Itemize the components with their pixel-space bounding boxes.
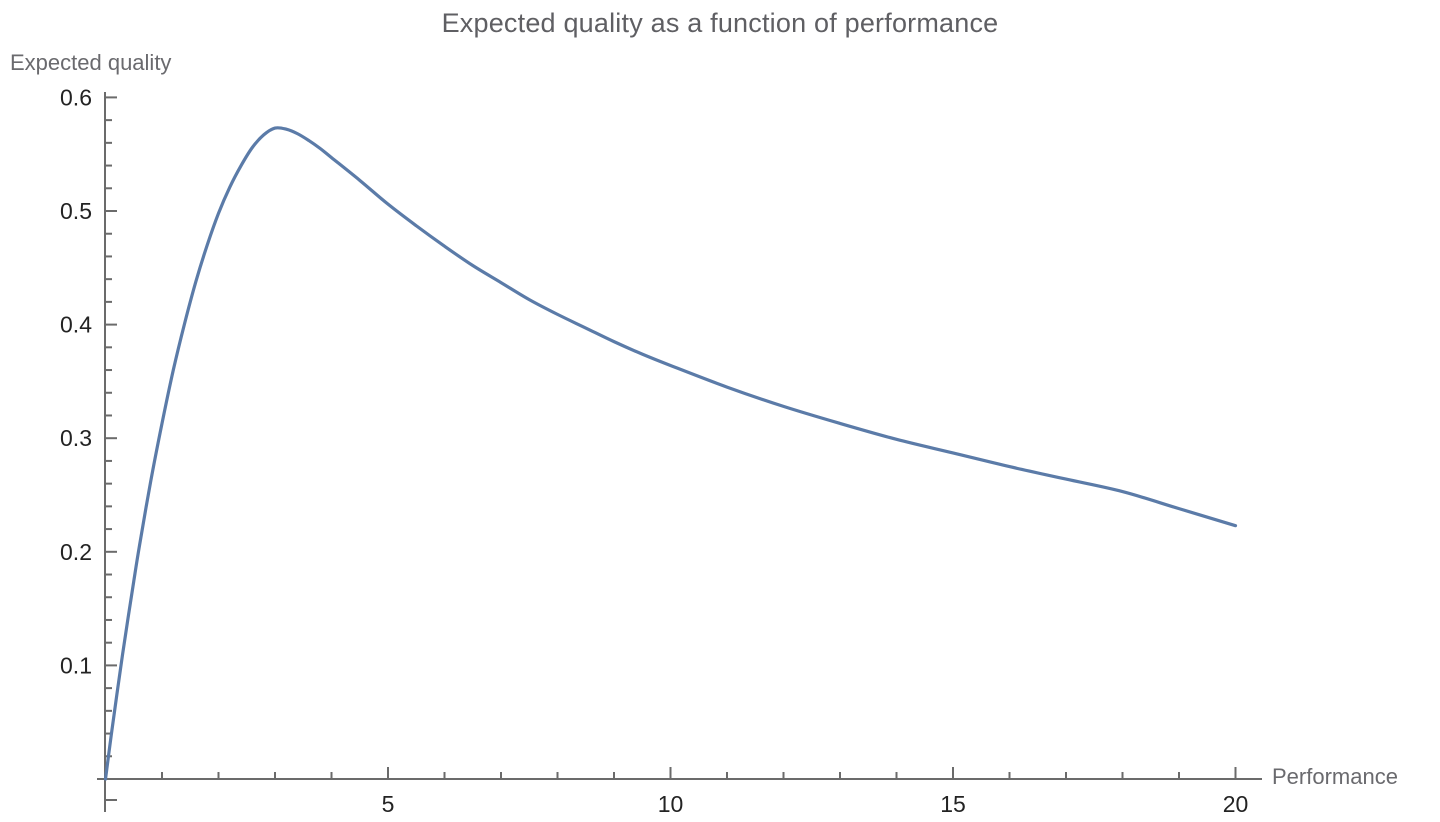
y-axis-tick-label: 0.5 — [60, 198, 92, 224]
x-axis-tick-label: 5 — [382, 791, 395, 817]
chart-svg: 5101520 0.10.20.30.40.50.6 — [0, 0, 1440, 822]
y-axis-tick-label: 0.6 — [60, 84, 92, 110]
y-axis-tick-label: 0.1 — [60, 652, 92, 678]
x-axis-tick-label: 15 — [940, 791, 966, 817]
axes-group — [97, 92, 1262, 812]
y-axis-ticks — [105, 97, 117, 800]
x-axis-tick-labels: 5101520 — [382, 791, 1249, 817]
x-axis-tick-label: 10 — [658, 791, 684, 817]
x-axis-tick-label: 20 — [1223, 791, 1249, 817]
chart-plot-area: Expected quality as a function of perfor… — [0, 0, 1440, 822]
data-series-line — [106, 128, 1236, 779]
y-axis-tick-label: 0.2 — [60, 539, 92, 565]
y-axis-tick-labels: 0.10.20.30.40.50.6 — [60, 84, 92, 678]
y-axis-tick-label: 0.4 — [60, 312, 92, 338]
y-axis-tick-label: 0.3 — [60, 425, 92, 451]
x-axis-ticks — [162, 767, 1236, 779]
